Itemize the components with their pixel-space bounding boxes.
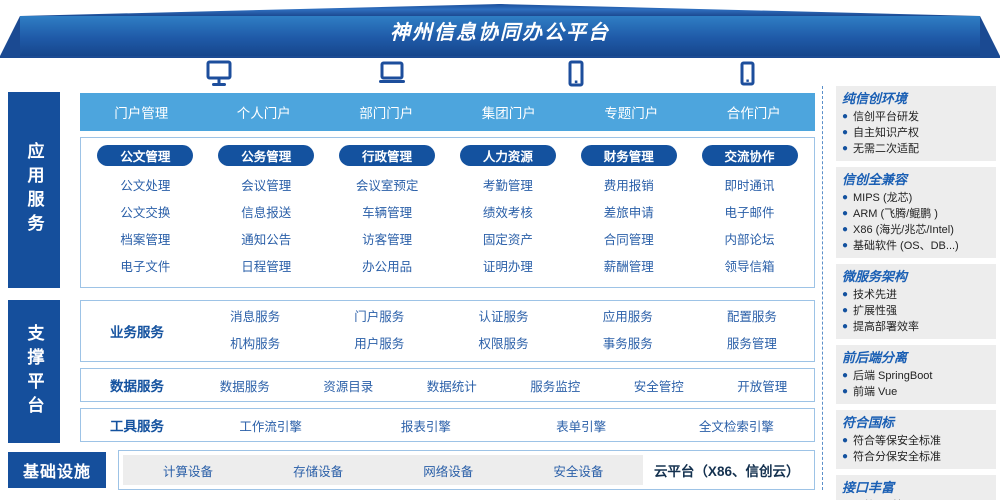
app-column-title[interactable]: 交流协作 — [702, 145, 798, 166]
sidebar-list-item-text: 无需二次适配 — [853, 141, 919, 157]
sidebar-card-3: 前后端分离 ●后端 SpringBoot ●前端 Vue — [836, 345, 996, 404]
sidebar-list-item: ●提高部署效率 — [842, 319, 991, 335]
layer-label-support-text: 支撑平台 — [22, 324, 47, 420]
portal-item[interactable]: 集团门户 — [448, 93, 571, 131]
sidebar-list-item-text: X86 (海光/兆芯/Intel) — [853, 222, 954, 238]
business-service-item[interactable]: 用户服务 — [317, 331, 441, 358]
bullet-icon: ● — [842, 433, 853, 449]
smartphone-icon — [738, 60, 756, 88]
portal-item[interactable]: 部门门户 — [325, 93, 448, 131]
sidebar-list-item: ●技术先进 — [842, 287, 991, 303]
bullet-icon: ● — [842, 287, 853, 303]
data-service-item[interactable]: 资源目录 — [297, 376, 401, 395]
business-service-item[interactable]: 配置服务 — [690, 304, 814, 331]
sidebar-card-title: 前后端分离 — [842, 348, 991, 367]
app-leaf-item[interactable]: 领导信箱 — [725, 254, 775, 281]
infrastructure-item[interactable]: 计算设备 — [123, 455, 253, 485]
sidebar-card-title: 接口丰富 — [842, 478, 991, 497]
data-service-item[interactable]: 数据服务 — [193, 376, 297, 395]
app-leaf-item[interactable]: 薪酬管理 — [604, 254, 654, 281]
sidebar-list-item-text: MIPS (龙芯) — [853, 190, 912, 206]
bullet-icon: ● — [842, 384, 853, 400]
app-leaf-item[interactable]: 信息报送 — [241, 200, 291, 227]
app-leaf-item[interactable]: 会议室预定 — [356, 173, 419, 200]
app-leaf-item[interactable]: 日程管理 — [241, 254, 291, 281]
portal-item[interactable]: 专题门户 — [570, 93, 693, 131]
sidebar-list-item-text: ARM (飞腾/鲲鹏 ) — [853, 206, 938, 222]
infrastructure-item[interactable]: 网络设备 — [383, 455, 513, 485]
business-services-label: 业务服务 — [81, 321, 193, 341]
device-icon-strip — [80, 60, 815, 92]
portal-item[interactable]: 合作门户 — [693, 93, 816, 131]
data-service-item[interactable]: 服务监控 — [504, 376, 608, 395]
bullet-icon: ● — [842, 222, 853, 238]
app-leaf-item[interactable]: 公文处理 — [120, 173, 170, 200]
bullet-icon: ● — [842, 303, 853, 319]
sidebar-card-title: 符合国标 — [842, 413, 991, 432]
layer-label-support: 支撑平台 — [8, 300, 60, 443]
business-service-item[interactable]: 应用服务 — [566, 304, 690, 331]
app-leaf-item[interactable]: 办公用品 — [362, 254, 412, 281]
portal-item[interactable]: 门户管理 — [80, 93, 203, 131]
business-service-item[interactable]: 消息服务 — [193, 304, 317, 331]
app-leaf-item[interactable]: 会议管理 — [241, 173, 291, 200]
sidebar-list-item: ●ARM (飞腾/鲲鹏 ) — [842, 206, 991, 222]
sidebar-list-item-text: 符合等保安全标准 — [853, 433, 941, 449]
business-service-item[interactable]: 机构服务 — [193, 331, 317, 358]
business-services-row-1: 消息服务 门户服务 认证服务 应用服务 配置服务 — [193, 304, 814, 331]
app-leaf-item[interactable]: 公文交换 — [120, 200, 170, 227]
app-leaf-item[interactable]: 内部论坛 — [725, 227, 775, 254]
business-service-item[interactable]: 服务管理 — [690, 331, 814, 358]
laptop-icon — [378, 60, 406, 88]
sidebar-list-item: ●扩展性强 — [842, 303, 991, 319]
data-service-item[interactable]: 开放管理 — [711, 376, 815, 395]
infrastructure-item[interactable]: 存储设备 — [253, 455, 383, 485]
business-service-item[interactable]: 门户服务 — [317, 304, 441, 331]
sidebar-list-item: ●MIPS (龙芯) — [842, 190, 991, 206]
sidebar-list-item: ●X86 (海光/兆芯/Intel) — [842, 222, 991, 238]
sidebar-card-title: 纯信创环境 — [842, 89, 991, 108]
sidebar-card-title: 信创全兼容 — [842, 170, 991, 189]
sidebar-card-1: 信创全兼容 ●MIPS (龙芯) ●ARM (飞腾/鲲鹏 ) ●X86 (海光/… — [836, 167, 996, 258]
app-column-title[interactable]: 行政管理 — [339, 145, 435, 166]
bullet-icon: ● — [842, 368, 853, 384]
app-column: 人力资源 考勤管理 绩效考核 固定资产 证明办理 — [447, 145, 568, 283]
bullet-icon: ● — [842, 319, 853, 335]
infrastructure-row: 计算设备 存储设备 网络设备 安全设备 云平台（X86、信创云） — [118, 450, 815, 490]
business-services-row: 业务服务 消息服务 门户服务 认证服务 应用服务 配置服务 机构服务 用户服务 … — [80, 300, 815, 362]
sidebar-list-item: ●信创平台研发 — [842, 109, 991, 125]
layer-label-application-text: 应用服务 — [22, 142, 47, 238]
sidebar-list-item-text: 符合分保安全标准 — [853, 449, 941, 465]
sidebar-list-item: ●前端 Vue — [842, 384, 991, 400]
app-column: 财务管理 费用报销 差旅申请 合同管理 薪酬管理 — [568, 145, 689, 283]
data-services-items: 数据服务 资源目录 数据统计 服务监控 安全管控 开放管理 — [193, 376, 814, 395]
sidebar-list-item: ●符合等保安全标准 — [842, 433, 991, 449]
tool-service-item[interactable]: 报表引擎 — [348, 416, 503, 435]
app-column: 公文管理 公文处理 公文交换 档案管理 电子文件 — [85, 145, 206, 283]
app-leaf-item[interactable]: 车辆管理 — [362, 200, 412, 227]
app-leaf-item[interactable]: 固定资产 — [483, 227, 533, 254]
app-column: 交流协作 即时通讯 电子邮件 内部论坛 领导信箱 — [689, 145, 810, 283]
app-leaf-item[interactable]: 费用报销 — [604, 173, 654, 200]
app-leaf-item[interactable]: 电子文件 — [120, 254, 170, 281]
application-services-panel: 公文管理 公文处理 公文交换 档案管理 电子文件 公务管理 会议管理 信息报送 … — [80, 137, 815, 288]
app-column-title[interactable]: 人力资源 — [460, 145, 556, 166]
bullet-icon: ● — [842, 190, 853, 206]
tool-services-label: 工具服务 — [81, 415, 193, 435]
sidebar-card-title: 微服务架构 — [842, 267, 991, 286]
business-service-item[interactable]: 认证服务 — [441, 304, 565, 331]
app-column-title[interactable]: 公文管理 — [97, 145, 193, 166]
infrastructure-item[interactable]: 安全设备 — [513, 455, 643, 485]
features-sidebar: 纯信创环境 ●信创平台研发 ●自主知识产权 ●无需二次适配 信创全兼容 ●MIP… — [836, 86, 996, 490]
app-leaf-item[interactable]: 档案管理 — [120, 227, 170, 254]
layer-label-infrastructure: 基础设施 — [8, 452, 106, 488]
app-leaf-item[interactable]: 差旅申请 — [604, 200, 654, 227]
sidebar-list-item: ●无需二次适配 — [842, 141, 991, 157]
app-column-title[interactable]: 公务管理 — [218, 145, 314, 166]
app-leaf-item[interactable]: 合同管理 — [604, 227, 654, 254]
sidebar-list-item: ●符合分保安全标准 — [842, 449, 991, 465]
business-service-item[interactable]: 事务服务 — [566, 331, 690, 358]
bullet-icon: ● — [842, 238, 853, 254]
bullet-icon: ● — [842, 125, 853, 141]
tool-service-item[interactable]: 工作流引擎 — [193, 416, 348, 435]
layer-label-application: 应用服务 — [8, 92, 60, 288]
desktop-monitor-icon — [206, 60, 232, 88]
sidebar-card-0: 纯信创环境 ●信创平台研发 ●自主知识产权 ●无需二次适配 — [836, 86, 996, 161]
app-leaf-item[interactable]: 考勤管理 — [483, 173, 533, 200]
data-services-label: 数据服务 — [81, 375, 193, 395]
title-banner: 神州信息协同办公平台 — [0, 0, 1000, 58]
app-column: 公务管理 会议管理 信息报送 通知公告 日程管理 — [206, 145, 327, 283]
app-leaf-item[interactable]: 电子邮件 — [725, 200, 775, 227]
data-service-item[interactable]: 数据统计 — [400, 376, 504, 395]
bullet-icon: ● — [842, 206, 853, 222]
sidebar-list-item-text: 扩展性强 — [853, 303, 897, 319]
infrastructure-cloud-platform[interactable]: 云平台（X86、信创云） — [643, 455, 810, 485]
data-service-item[interactable]: 安全管控 — [607, 376, 711, 395]
tool-services-items: 工作流引擎 报表引擎 表单引擎 全文检索引擎 — [193, 416, 814, 435]
business-services-grid: 消息服务 门户服务 认证服务 应用服务 配置服务 机构服务 用户服务 权限服务 … — [193, 304, 814, 358]
portal-bar: 门户管理 个人门户 部门门户 集团门户 专题门户 合作门户 — [80, 93, 815, 131]
sidebar-list-item-text: 基础软件 (OS、DB...) — [853, 238, 959, 254]
app-leaf-item[interactable]: 绩效考核 — [483, 200, 533, 227]
sidebar-list-item-text: 技术先进 — [853, 287, 897, 303]
app-column-title[interactable]: 财务管理 — [581, 145, 677, 166]
sidebar-list-item-text: 前端 Vue — [853, 384, 897, 400]
layer-label-infrastructure-text: 基础设施 — [23, 458, 91, 482]
portal-item[interactable]: 个人门户 — [203, 93, 326, 131]
tool-services-row: 工具服务 工作流引擎 报表引擎 表单引擎 全文检索引擎 — [80, 408, 815, 442]
sidebar-list-item-text: 自主知识产权 — [853, 125, 919, 141]
tool-service-item[interactable]: 表单引擎 — [504, 416, 659, 435]
sidebar-list-item: ●后端 SpringBoot — [842, 368, 991, 384]
data-services-row: 数据服务 数据服务 资源目录 数据统计 服务监控 安全管控 开放管理 — [80, 368, 815, 402]
sidebar-list-item-text: 提高部署效率 — [853, 319, 919, 335]
business-services-row-2: 机构服务 用户服务 权限服务 事务服务 服务管理 — [193, 331, 814, 358]
architecture-diagram: 神州信息协同办公平台 — [0, 0, 1000, 500]
business-service-item[interactable]: 权限服务 — [441, 331, 565, 358]
app-leaf-item[interactable]: 访客管理 — [362, 227, 412, 254]
bullet-icon: ● — [842, 141, 853, 157]
app-column: 行政管理 会议室预定 车辆管理 访客管理 办公用品 — [327, 145, 448, 283]
app-leaf-item[interactable]: 证明办理 — [483, 254, 533, 281]
page-title: 神州信息协同办公平台 — [0, 20, 1000, 46]
sidebar-list-item-text: 后端 SpringBoot — [853, 368, 932, 384]
sidebar-card-5: 接口丰富 ●开放API管理 — [836, 475, 996, 500]
tablet-icon — [567, 60, 585, 88]
sidebar-list-item-text: 信创平台研发 — [853, 109, 919, 125]
bullet-icon: ● — [842, 109, 853, 125]
app-leaf-item[interactable]: 即时通讯 — [725, 173, 775, 200]
app-leaf-item[interactable]: 通知公告 — [241, 227, 291, 254]
sidebar-card-2: 微服务架构 ●技术先进 ●扩展性强 ●提高部署效率 — [836, 264, 996, 339]
sidebar-list-item: ●自主知识产权 — [842, 125, 991, 141]
vertical-dashed-divider — [822, 86, 823, 490]
tool-service-item[interactable]: 全文检索引擎 — [659, 416, 814, 435]
sidebar-card-4: 符合国标 ●符合等保安全标准 ●符合分保安全标准 — [836, 410, 996, 469]
sidebar-list-item: ●基础软件 (OS、DB...) — [842, 238, 991, 254]
bullet-icon: ● — [842, 449, 853, 465]
